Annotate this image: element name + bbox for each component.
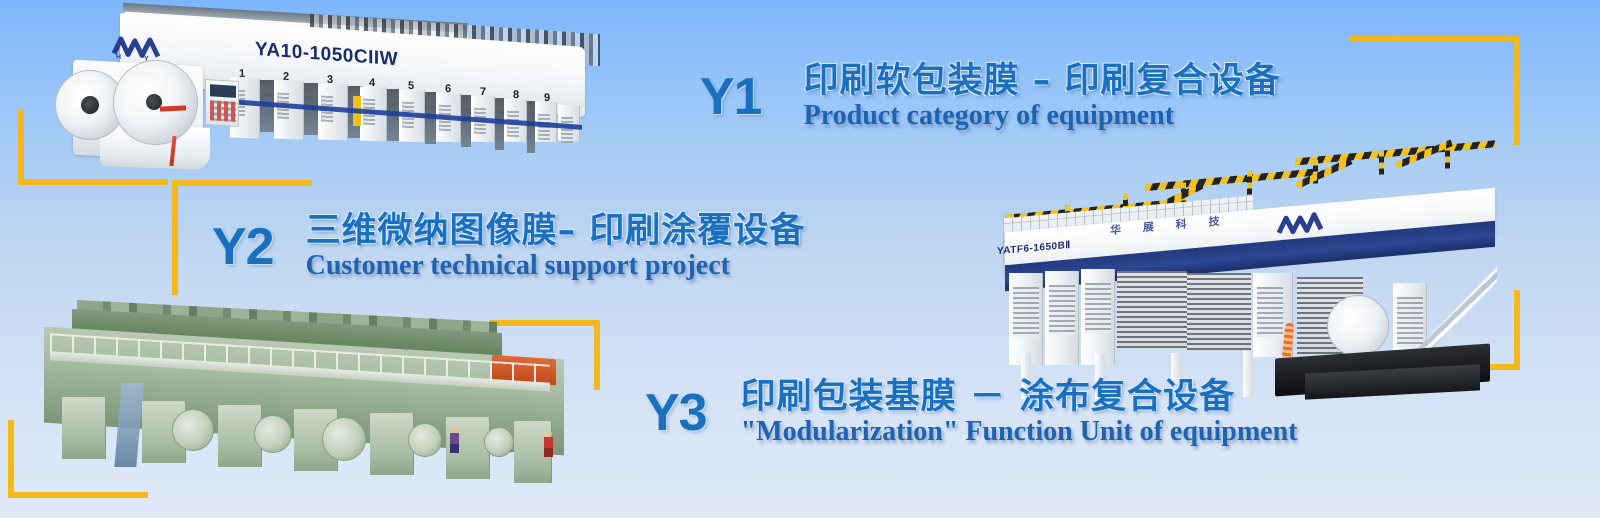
promo-banner: H Y YA10-1050CIIW 1 2 3 4 5 6 7 8 9 [0, 0, 1600, 518]
svg-text:H: H [116, 54, 121, 61]
hy-logo-icon: H Y [110, 33, 162, 63]
row-title-en-y2: Customer technical support project [306, 251, 806, 282]
worker-figure [544, 431, 553, 457]
row-title-cn-y2: 三维微纳图像膜– 印刷涂覆设备 [306, 212, 806, 251]
machine-photo-y2: 华 展 科 技 YATF6-1650BⅡ [975, 155, 1515, 415]
row-title-en-y3: "Modularization" Function Unit of equipm… [741, 417, 1298, 448]
text-block-y1: Y1 印刷软包装膜 – 印刷复合设备 Product category of e… [700, 62, 1280, 132]
worker-figure [450, 427, 459, 453]
row-code-y2: Y2 [212, 221, 274, 273]
row-title-cn-y1: 印刷软包装膜 – 印刷复合设备 [804, 62, 1281, 101]
hy-logo-icon-2 [1275, 210, 1325, 238]
machine-photo-y1: H Y YA10-1050CIIW 1 2 3 4 5 6 7 8 9 [55, 8, 595, 183]
machine-photo-y3 [22, 305, 582, 490]
row-code-y3: Y3 [645, 387, 707, 439]
text-block-y2: Y2 三维微纳图像膜– 印刷涂覆设备 Customer technical su… [212, 212, 805, 282]
row-title-cn-y3: 印刷包装基膜 － 涂布复合设备 [741, 378, 1298, 417]
row-title-en-y1: Product category of equipment [804, 101, 1281, 132]
bracket-top-right [1350, 35, 1520, 145]
row-code-y1: Y1 [700, 71, 762, 123]
text-block-y3: Y3 印刷包装基膜 － 涂布复合设备 "Modularization" Func… [645, 378, 1298, 448]
